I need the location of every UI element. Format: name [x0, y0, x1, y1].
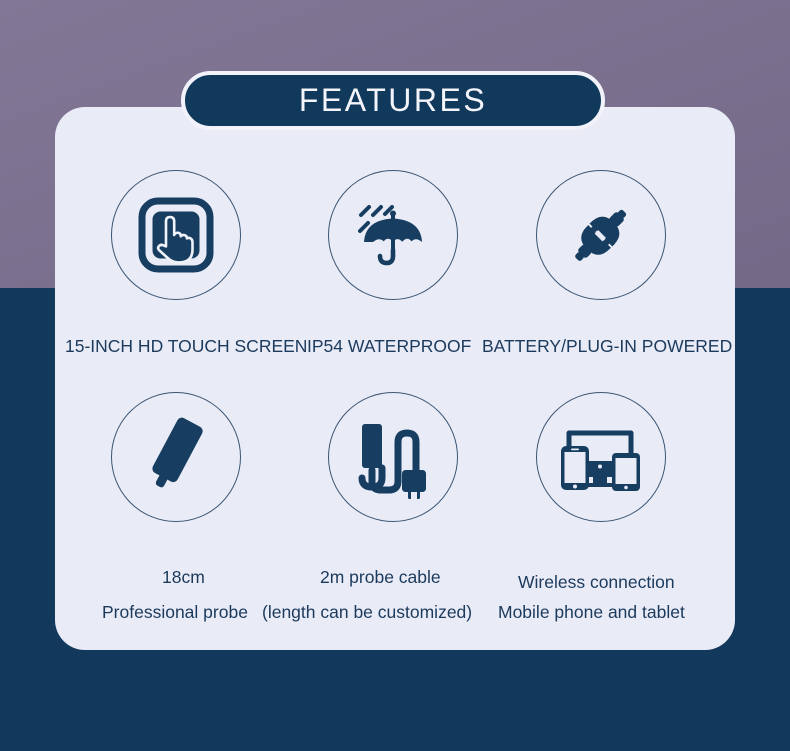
features-badge: FEATURES	[181, 71, 605, 130]
label-cable-length: 2m probe cable	[320, 567, 441, 588]
feature-item-touch-screen	[63, 170, 289, 300]
umbrella-rain-icon	[351, 193, 435, 277]
label-power: BATTERY/PLUG-IN POWERED	[482, 336, 732, 357]
probe-icon	[130, 411, 222, 503]
power-plug-icon	[559, 193, 643, 277]
page-title: FEATURES	[299, 82, 487, 119]
label-probe-length: 18cm	[162, 567, 205, 588]
label-waterproof: IP54 WATERPROOF	[307, 336, 471, 357]
feature-row-1-labels: 15-INCH HD TOUCH SCREEN IP54 WATERPROOF …	[55, 336, 745, 362]
feature-item-waterproof	[280, 170, 506, 300]
sublabel-professional-probe: Professional probe	[102, 602, 248, 623]
feature-item-devices	[488, 392, 714, 522]
feature-item-power	[488, 170, 714, 300]
feature-item-cable	[280, 392, 506, 522]
feature-item-probe	[63, 392, 289, 522]
probe-cable-icon	[350, 414, 436, 500]
power-circle	[536, 170, 666, 300]
devices-icon	[555, 411, 647, 503]
touch-screen-circle	[111, 170, 241, 300]
cable-circle	[328, 392, 458, 522]
label-touch-screen: 15-INCH HD TOUCH SCREEN	[65, 336, 307, 357]
touch-screen-icon	[136, 195, 216, 275]
label-wireless: Wireless connection	[518, 572, 675, 593]
sublabel-mobile-tablet: Mobile phone and tablet	[498, 602, 685, 623]
waterproof-circle	[328, 170, 458, 300]
features-poster: FEATURES	[0, 0, 790, 751]
devices-circle	[536, 392, 666, 522]
probe-circle	[111, 392, 241, 522]
sublabel-customizable-length: (length can be customized)	[262, 602, 472, 623]
